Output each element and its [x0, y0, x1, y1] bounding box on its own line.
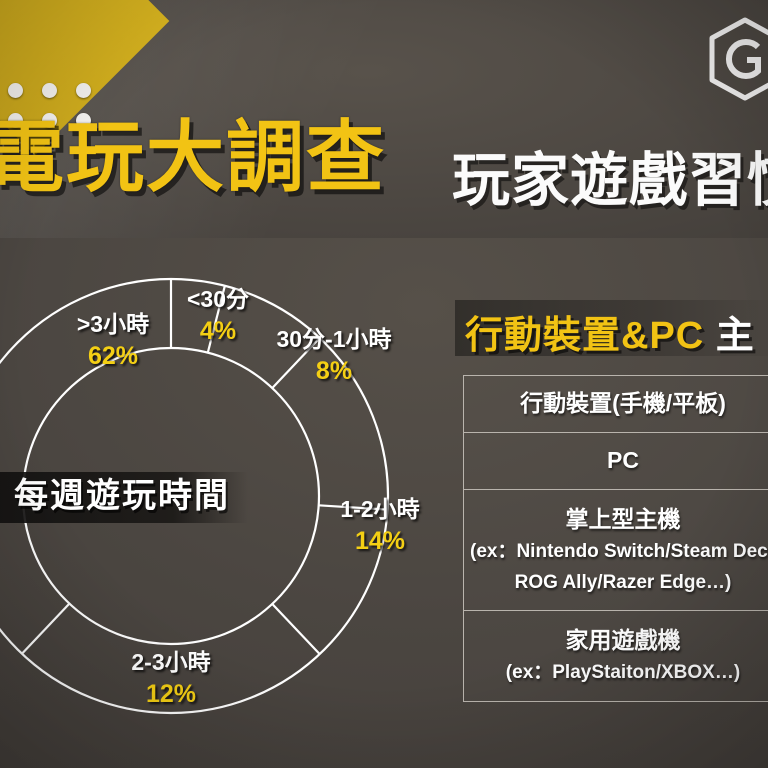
table-row: PC [464, 433, 768, 490]
segment-label-text: 2-3小時 [131, 649, 210, 675]
donut-label-2-3h: 2-3小時 12% [116, 648, 226, 710]
page-subtitle: 玩家遊戲習慣 [452, 152, 768, 210]
row-example: (ex：Nintendo Switch/Steam Deck [470, 538, 768, 566]
table-row: 家用遊戲機 (ex：PlayStaiton/XBOX…) [464, 611, 768, 701]
segment-label-text: 1-2小時 [340, 496, 419, 522]
platform-panel-header: 行動裝置&PC 主 [455, 300, 768, 356]
table-row: 掌上型主機 (ex：Nintendo Switch/Steam Deck ROG… [464, 490, 768, 611]
donut-label-gt3h: >3小時 62% [58, 310, 168, 372]
platform-table: 行動裝置(手機/平板) PC 掌上型主機 (ex：Nintendo Switch… [463, 375, 768, 702]
row-example-cont: ROG Ally/Razer Edge…) [470, 569, 768, 597]
segment-label-text: 30分-1小時 [276, 326, 391, 352]
platform-panel-heading: 行動裝置&PC 主 [465, 304, 755, 359]
slide-canvas: 電玩大調查 玩家遊戲習慣 [0, 0, 768, 768]
chart-title-badge: 每週遊玩時間 [0, 472, 248, 523]
segment-value-text: 14% [325, 526, 435, 557]
donut-label-1-2h: 1-2小時 14% [325, 495, 435, 557]
dot [76, 83, 91, 98]
dot [42, 83, 57, 98]
dot [8, 83, 23, 98]
donut-label-30min-1h: 30分-1小時 8% [264, 325, 404, 387]
segment-value-text: 4% [176, 316, 260, 347]
segment-value-text: 12% [116, 679, 226, 710]
row-title: 家用遊戲機 [470, 625, 768, 656]
donut-label-lt30min: <30分 4% [176, 285, 260, 347]
segment-label-text: >3小時 [77, 311, 149, 337]
row-title: 行動裝置(手機/平板) [470, 388, 768, 419]
header-banner: 電玩大調查 玩家遊戲習慣 [0, 0, 768, 238]
donut-divider-4 [272, 604, 319, 654]
heading-rest-text: 主 [704, 315, 755, 357]
row-title: 掌上型主機 [470, 504, 768, 535]
segment-label-text: <30分 [187, 286, 249, 312]
page-title: 電玩大調查 [0, 118, 386, 196]
donut-divider-5 [22, 604, 69, 654]
heading-accent-text: 行動裝置&PC [465, 315, 704, 357]
segment-value-text: 8% [264, 356, 404, 387]
row-example: (ex：PlayStaiton/XBOX…) [470, 659, 768, 687]
segment-value-text: 62% [58, 341, 168, 372]
table-row: 行動裝置(手機/平板) [464, 376, 768, 433]
row-title: PC [470, 445, 768, 476]
hexagon-g-logo [706, 16, 768, 102]
